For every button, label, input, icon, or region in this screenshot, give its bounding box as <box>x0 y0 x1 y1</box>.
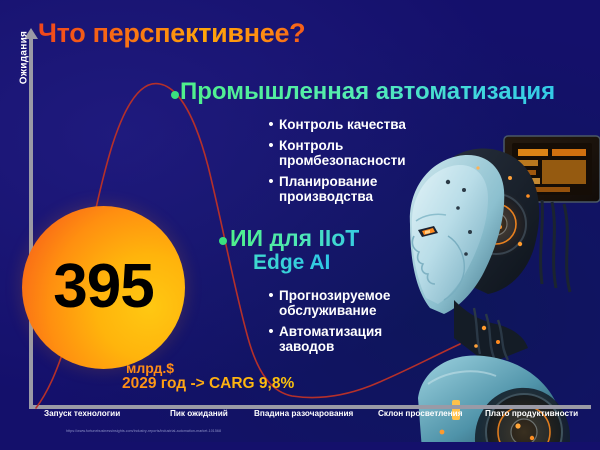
hype-cycle-stage-labels: Запуск технологии Пик ожиданий Впадина р… <box>30 409 596 425</box>
stage-label-2: Пик ожиданий <box>170 409 228 418</box>
stage-label-5: Плато продуктивности <box>485 409 578 418</box>
section-2-bullet-list: • Прогнозируемое обслуживание • Автомати… <box>263 288 390 360</box>
bullet-marker: • <box>263 117 279 132</box>
list-item: • Контроль качества <box>263 117 406 132</box>
list-item-label: Автоматизация заводов <box>279 324 382 354</box>
bullet-marker: • <box>263 288 279 303</box>
list-item-line-2: обслуживание <box>279 303 376 318</box>
list-item-line-1: Планирование <box>279 174 377 189</box>
stage-label-4: Склон просветления <box>378 409 463 418</box>
list-item: • Планирование производства <box>263 174 406 204</box>
section-2-subheading: Edge AI <box>253 251 330 275</box>
market-value-number: 395 <box>53 256 153 318</box>
source-url[interactable]: https://www.fortunebusinessinsights.com/… <box>66 429 221 433</box>
robot-neck <box>454 300 528 364</box>
humanoid-robot-artwork <box>392 132 600 450</box>
section-1-heading: Промышленная автоматизация <box>180 78 555 106</box>
market-value-unit: млрд.$ <box>126 360 174 376</box>
list-item-line-1: Контроль <box>279 138 343 153</box>
list-item-label: Планирование производства <box>279 174 377 204</box>
list-item-line-2: промбезопасности <box>279 153 406 168</box>
page-title: Что перспективнее? <box>38 18 305 49</box>
stage-label-1: Запуск технологии <box>44 409 120 418</box>
bullet-marker: • <box>263 138 279 153</box>
y-axis-line <box>29 36 33 409</box>
bullet-marker: • <box>263 174 279 189</box>
list-item: • Автоматизация заводов <box>263 324 390 354</box>
section-1-bullet-list: • Контроль качества • Контроль промбезоп… <box>263 117 406 210</box>
list-item: • Прогнозируемое обслуживание <box>263 288 390 318</box>
y-axis-label: Ожидания <box>19 18 30 98</box>
stage-label-3: Впадина разочарования <box>254 409 353 418</box>
slide-canvas: Ожидания Что перспективнее? Промышленная… <box>0 0 600 450</box>
section-2-heading: ИИ для IIoT <box>230 225 359 252</box>
market-forecast-label: 2029 год -> CARG 9,8% <box>122 375 294 393</box>
list-item-line-1: Прогнозируемое <box>279 288 390 303</box>
market-value-circle: 395 <box>22 206 185 369</box>
section-2-bullet-dot <box>219 237 227 245</box>
list-item-line-1: Автоматизация <box>279 324 382 339</box>
section-1-bullet-dot <box>171 91 179 99</box>
list-item-line-2: заводов <box>279 339 334 354</box>
list-item-label: Прогнозируемое обслуживание <box>279 288 390 318</box>
list-item: • Контроль промбезопасности <box>263 138 406 168</box>
list-item-label: Контроль промбезопасности <box>279 138 406 168</box>
bottom-strip <box>0 442 600 450</box>
bullet-marker: • <box>263 324 279 339</box>
list-item-line-2: производства <box>279 189 373 204</box>
list-item-label: Контроль качества <box>279 117 406 132</box>
